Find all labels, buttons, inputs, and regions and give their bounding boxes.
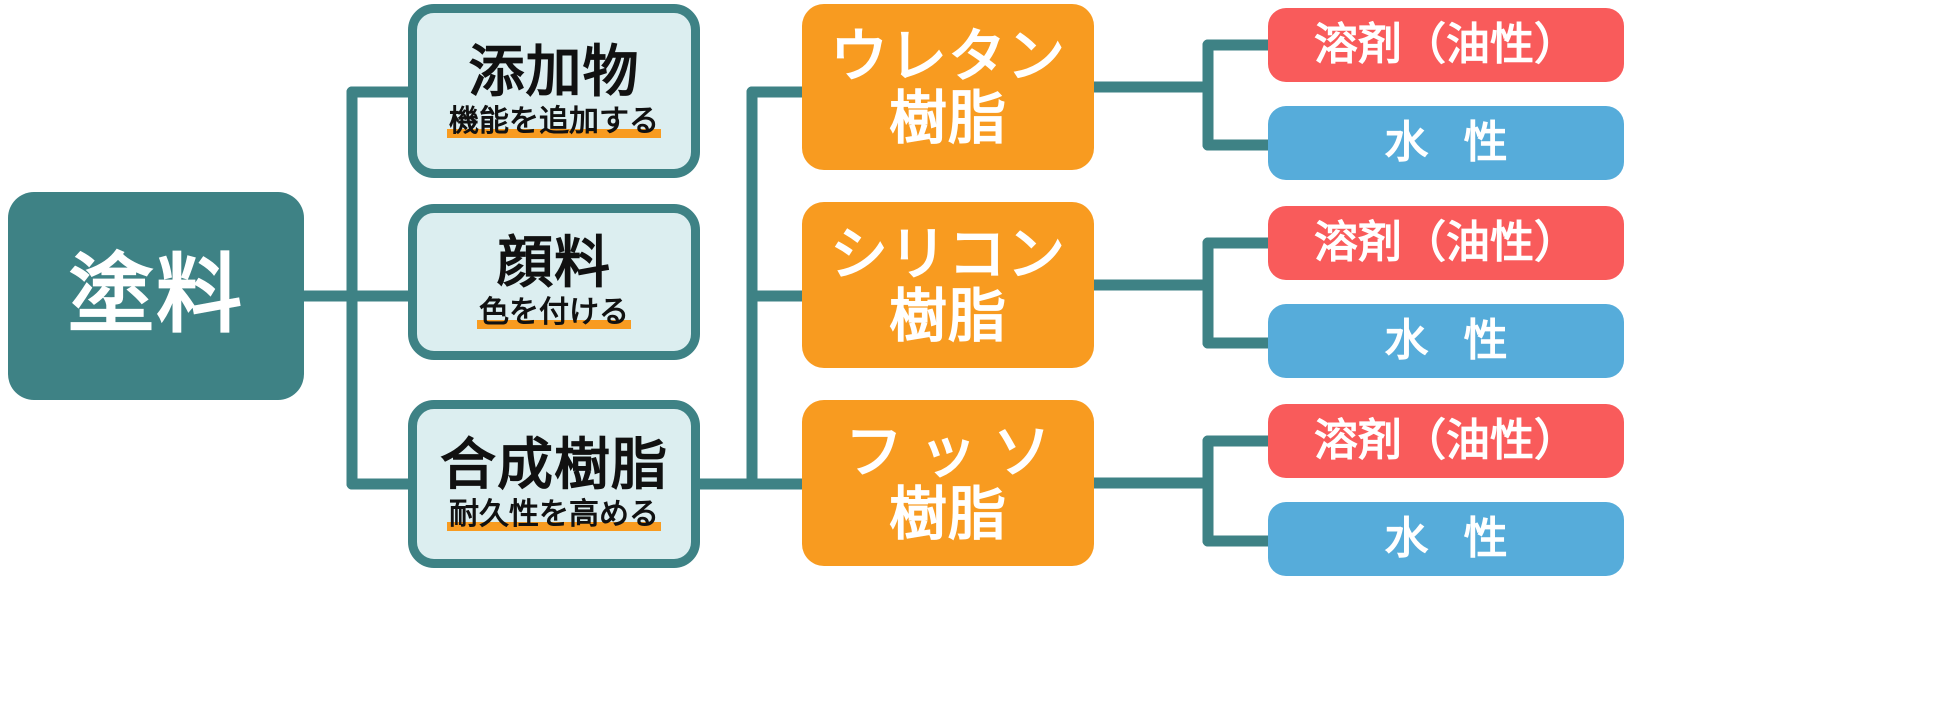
leaf-node-water-1[interactable]: 水 性 <box>1268 106 1624 180</box>
resin-node-silicone[interactable]: シリコン 樹脂 <box>802 202 1094 368</box>
resin-line-1: ウレタン <box>830 26 1066 86</box>
resin-line-2: 樹脂 <box>889 88 1007 148</box>
component-node-synthetic-resin[interactable]: 合成樹脂 耐久性を高める <box>408 400 700 568</box>
resin-line-1: フッソ <box>829 422 1067 482</box>
component-title: 顔料 <box>497 235 611 293</box>
component-node-pigment[interactable]: 顔料 色を付ける <box>408 204 700 360</box>
component-node-additive[interactable]: 添加物 機能を追加する <box>408 4 700 178</box>
leaf-node-solvent-1[interactable]: 溶剤（油性） <box>1268 8 1624 82</box>
component-title: 添加物 <box>469 44 640 102</box>
resin-node-urethane[interactable]: ウレタン 樹脂 <box>802 4 1094 170</box>
leaf-node-solvent-2[interactable]: 溶剤（油性） <box>1268 206 1624 280</box>
root-node-paint[interactable]: 塗料 <box>8 192 304 400</box>
component-title: 合成樹脂 <box>440 437 668 495</box>
leaf-node-water-2[interactable]: 水 性 <box>1268 304 1624 378</box>
root-node-label: 塗料 <box>68 251 244 340</box>
resin-line-1: シリコン <box>830 224 1066 284</box>
resin-node-fluorine[interactable]: フッソ 樹脂 <box>802 400 1094 566</box>
component-subtitle: 機能を追加する <box>447 106 661 138</box>
resin-line-2: 樹脂 <box>889 286 1007 346</box>
leaf-node-solvent-3[interactable]: 溶剤（油性） <box>1268 404 1624 478</box>
leaf-node-water-3[interactable]: 水 性 <box>1268 502 1624 576</box>
diagram-canvas: 塗料 添加物 機能を追加する 顔料 色を付ける 合成樹脂 耐久性を高める ウレタ… <box>0 0 1952 720</box>
resin-line-2: 樹脂 <box>889 484 1007 544</box>
component-subtitle: 耐久性を高める <box>447 499 661 531</box>
component-subtitle: 色を付ける <box>477 297 631 329</box>
